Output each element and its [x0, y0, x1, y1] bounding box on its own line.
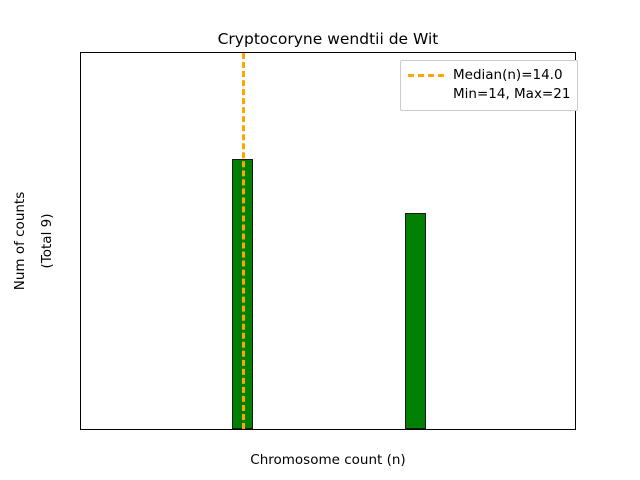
y-tick-mark: [80, 377, 81, 378]
y-tick-mark: [80, 161, 81, 162]
y-tick-mark: [80, 323, 81, 324]
y-tick-mark: [80, 53, 81, 54]
legend-item-median: Median(n)=14.0: [408, 66, 570, 85]
chart-title: Cryptocoryne wendtii de Wit: [80, 30, 576, 48]
figure-canvas: Cryptocoryne wendtii de Wit 01234567 142…: [0, 0, 640, 480]
y-axis-label: Num of counts: [12, 192, 28, 291]
legend-label-minmax: Min=14, Max=21: [453, 85, 570, 104]
legend: Median(n)=14.0 Min=14, Max=21: [400, 60, 578, 111]
y-axis-label-total: (Total 9): [39, 214, 55, 269]
legend-label-median: Median(n)=14.0: [453, 66, 563, 85]
x-tick-mark: [242, 429, 243, 430]
x-tick-mark: [416, 429, 417, 430]
y-tick-mark: [80, 107, 81, 108]
y-tick-mark: [80, 269, 81, 270]
x-axis-label: Chromosome count (n): [80, 452, 576, 468]
blank-marker-icon: [408, 93, 444, 96]
dashed-line-icon: [408, 74, 444, 77]
legend-item-minmax: Min=14, Max=21: [408, 85, 570, 104]
y-tick-mark: [80, 215, 81, 216]
bar: [405, 213, 426, 429]
median-line: [242, 53, 245, 429]
